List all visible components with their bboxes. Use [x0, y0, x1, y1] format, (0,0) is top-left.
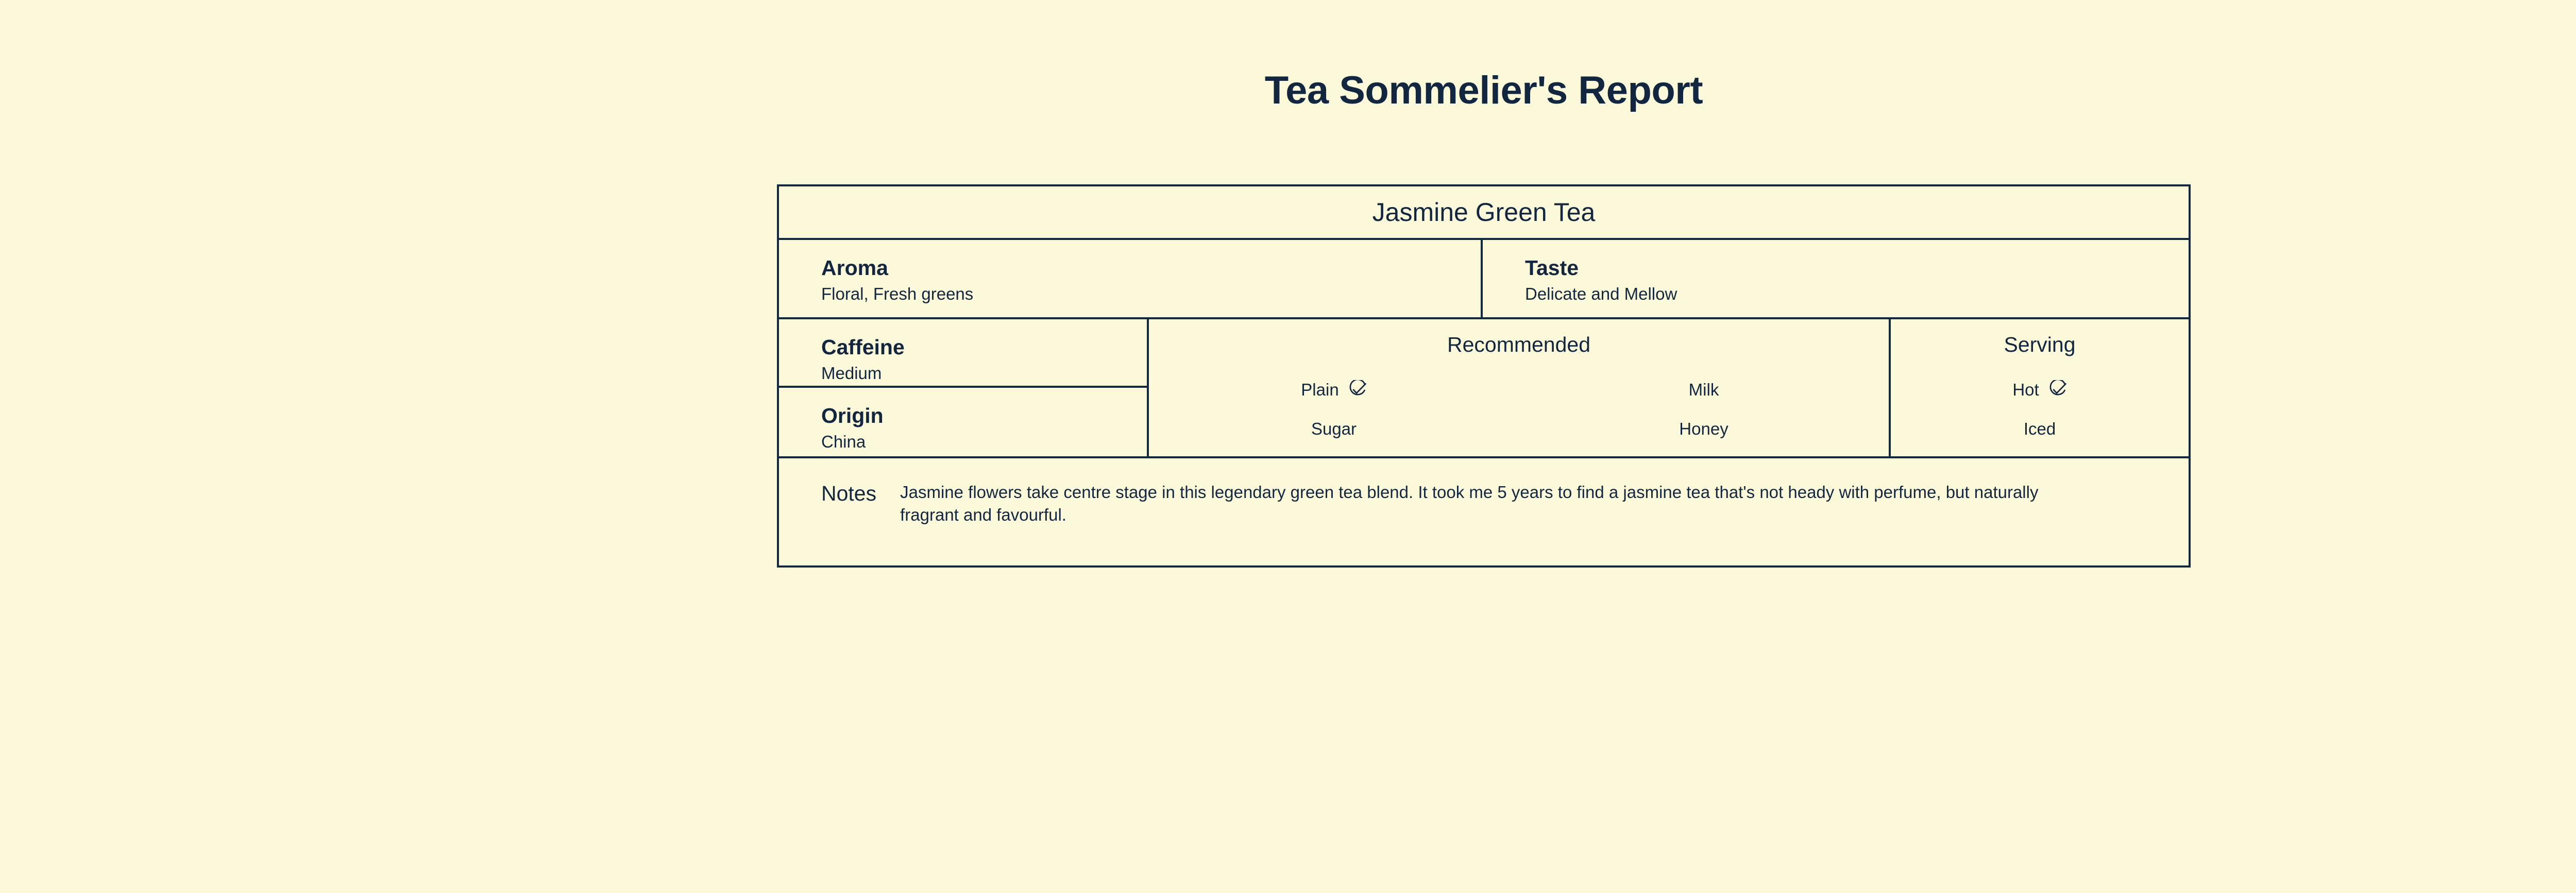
report-page: Tea Sommelier's Report Jasmine Green Tea…	[0, 0, 2576, 893]
origin-value: China	[821, 431, 1147, 453]
serving-heading: Serving	[1891, 333, 2189, 357]
serving-option-label: Iced	[2024, 419, 2056, 439]
tea-name: Jasmine Green Tea	[1372, 197, 1596, 227]
recommended-option-list: Plain Milk Sugar	[1149, 370, 1889, 449]
recommended-cell: Recommended Plain Milk	[1149, 319, 1891, 456]
recommended-option-sugar[interactable]: Sugar	[1149, 409, 1519, 449]
recommended-option-label: Plain	[1301, 380, 1338, 400]
serving-option-hot[interactable]: Hot	[1891, 370, 2189, 409]
caffeine-value: Medium	[821, 363, 1147, 385]
tea-report-table: Jasmine Green Tea Aroma Floral, Fresh gr…	[777, 184, 2191, 568]
origin-label: Origin	[821, 403, 1147, 428]
aroma-value: Floral, Fresh greens	[821, 283, 1481, 305]
check-circle-icon	[1347, 380, 1367, 400]
aroma-label: Aroma	[821, 255, 1481, 280]
notes-text: Jasmine flowers take centre stage in thi…	[900, 481, 2085, 526]
recommended-heading: Recommended	[1149, 333, 1889, 357]
serving-option-iced[interactable]: Iced	[1891, 409, 2189, 449]
attributes-row: Caffeine Medium Origin China Recommended…	[779, 319, 2189, 458]
recommended-option-label: Honey	[1679, 419, 1728, 439]
recommended-option-milk[interactable]: Milk	[1519, 370, 1889, 409]
origin-cell: Origin China	[779, 388, 1147, 456]
taste-label: Taste	[1525, 255, 2189, 280]
caffeine-cell: Caffeine Medium	[779, 319, 1147, 388]
serving-option-list: Hot Iced	[1891, 370, 2189, 449]
page-title: Tea Sommelier's Report	[0, 68, 2576, 113]
serving-option-label: Hot	[2012, 380, 2039, 400]
check-circle-icon	[2047, 380, 2067, 400]
tea-name-row: Jasmine Green Tea	[779, 186, 2189, 240]
notes-row: Notes Jasmine flowers take centre stage …	[779, 458, 2189, 565]
caffeine-origin-stack: Caffeine Medium Origin China	[779, 319, 1149, 456]
caffeine-label: Caffeine	[821, 335, 1147, 359]
serving-cell: Serving Hot Iced	[1891, 319, 2189, 456]
notes-label: Notes	[821, 481, 876, 504]
recommended-option-label: Sugar	[1311, 419, 1357, 439]
aroma-cell: Aroma Floral, Fresh greens	[779, 240, 1483, 317]
taste-value: Delicate and Mellow	[1525, 283, 2189, 305]
recommended-option-honey[interactable]: Honey	[1519, 409, 1889, 449]
aroma-taste-row: Aroma Floral, Fresh greens Taste Delicat…	[779, 240, 2189, 319]
recommended-option-plain[interactable]: Plain	[1149, 370, 1519, 409]
recommended-option-label: Milk	[1689, 380, 1719, 400]
taste-cell: Taste Delicate and Mellow	[1483, 240, 2189, 317]
